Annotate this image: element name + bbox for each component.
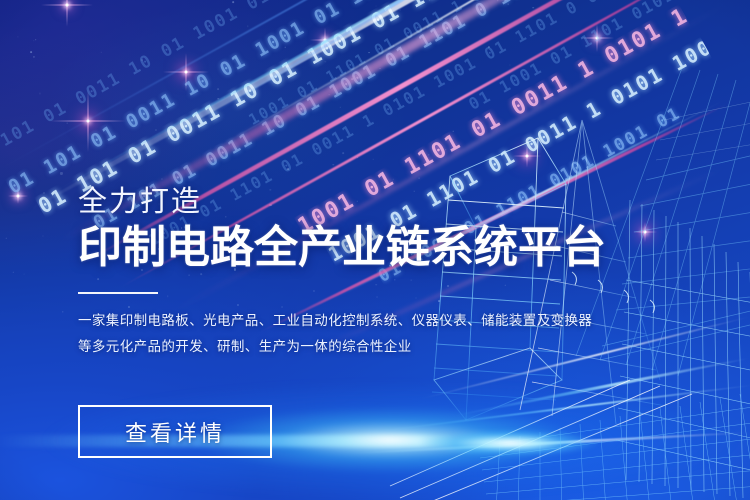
- hero-content: 全力打造 印制电路全产业链系统平台 一家集印制电路板、光电产品、工业自动化控制系…: [78, 186, 678, 361]
- star-sparkle-icon: [310, 25, 340, 55]
- dust-speck: [532, 7, 534, 9]
- dust-speck: [379, 68, 381, 70]
- dust-speck: [232, 2, 234, 4]
- star-sparkle-icon: [580, 21, 614, 55]
- star-sparkle-icon: [50, 83, 126, 159]
- light-burst-core: [420, 430, 600, 456]
- dust-speck: [33, 40, 34, 41]
- dust-speck: [23, 274, 24, 275]
- dust-speck: [101, 52, 102, 53]
- hero-subtitle-line-2: 等多元化产品的开发、研制、生产为一体的综合性企业: [78, 334, 678, 360]
- dust-speck: [325, 61, 326, 62]
- view-details-button[interactable]: 查看详情: [78, 405, 272, 458]
- page-title: 印制电路全产业链系统平台: [78, 224, 678, 272]
- hero-subtitle-line-1: 一家集印制电路板、光电产品、工业自动化控制系统、仪器仪表、储能装置及变换器: [78, 308, 678, 334]
- title-divider: [78, 292, 158, 294]
- hero-subtitle: 一家集印制电路板、光电产品、工业自动化控制系统、仪器仪表、储能装置及变换器 等多…: [78, 308, 678, 361]
- dust-speck: [42, 235, 43, 236]
- star-sparkle-icon: [8, 186, 28, 206]
- dust-speck: [247, 26, 248, 27]
- dust-speck: [375, 5, 376, 6]
- dust-speck: [488, 46, 490, 48]
- hero-banner: 01 101 01 0011 10 01 1001 01 1101 0 101 …: [0, 0, 750, 500]
- dust-speck: [62, 311, 63, 312]
- dust-speck: [438, 35, 440, 37]
- dust-speck: [162, 178, 163, 179]
- dust-speck: [35, 39, 37, 41]
- dust-speck: [451, 19, 452, 20]
- dust-speck: [287, 168, 289, 170]
- dust-speck: [399, 10, 400, 11]
- dust-speck: [217, 88, 219, 90]
- dust-speck: [67, 123, 68, 124]
- dust-speck: [497, 0, 499, 1]
- dust-speck: [341, 47, 343, 49]
- dust-speck: [155, 129, 157, 131]
- dust-speck: [224, 97, 225, 98]
- dust-speck: [43, 192, 45, 194]
- dust-speck: [17, 36, 18, 37]
- dust-speck: [30, 51, 32, 53]
- dust-speck: [285, 47, 286, 48]
- dust-speck: [58, 105, 59, 106]
- dust-speck: [218, 98, 220, 100]
- hero-eyebrow: 全力打造: [78, 186, 678, 218]
- star-sparkle-icon: [163, 49, 209, 95]
- dust-speck: [169, 138, 170, 139]
- dust-speck: [60, 172, 62, 174]
- star-sparkle-icon: [41, 0, 93, 31]
- dust-speck: [40, 93, 41, 94]
- dust-speck: [327, 127, 328, 128]
- dust-speck: [507, 4, 508, 5]
- dust-speck: [368, 52, 370, 54]
- dust-speck: [33, 56, 35, 58]
- dust-speck: [309, 53, 311, 55]
- dust-speck: [142, 59, 144, 61]
